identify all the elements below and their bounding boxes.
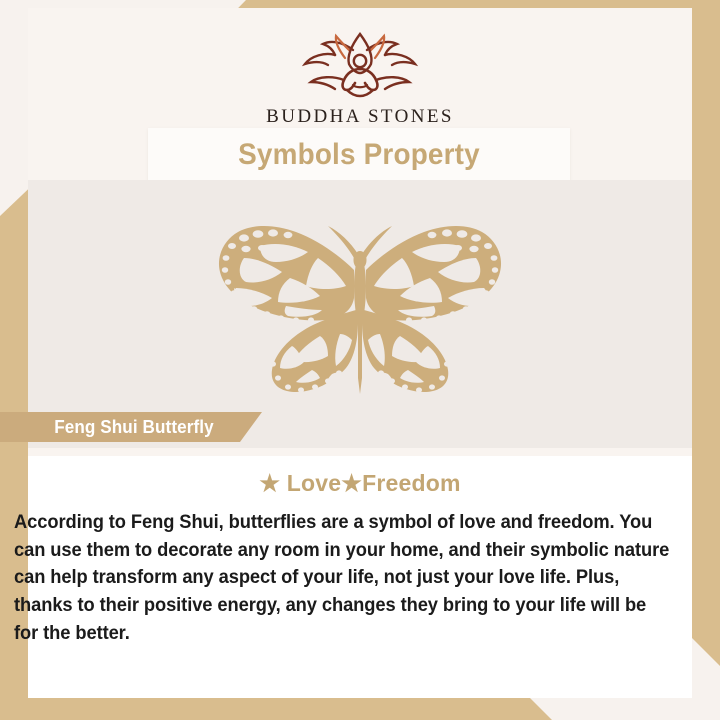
- butterfly-icon: [200, 198, 520, 408]
- description-subtitle: ★ Love★Freedom: [28, 470, 692, 497]
- description-card: ★ Love★Freedom According to Feng Shui, b…: [28, 456, 692, 698]
- feature-tag-label: Feng Shui Butterfly: [54, 417, 214, 438]
- poster-root: BUDDHA STONES Symbols Property: [0, 0, 720, 720]
- feature-tag-banner: Feng Shui Butterfly: [0, 412, 262, 442]
- feature-image-panel: [28, 180, 692, 448]
- lotus-meditation-icon: [285, 28, 435, 100]
- page-title: Symbols Property: [238, 138, 480, 172]
- brand-wordmark: BUDDHA STONES: [266, 106, 454, 128]
- description-paragraph: According to Feng Shui, butterflies are …: [14, 509, 672, 647]
- page-title-band: Symbols Property: [148, 128, 570, 182]
- brand-header: BUDDHA STONES: [28, 28, 692, 128]
- content-sheet: BUDDHA STONES Symbols Property: [28, 8, 692, 698]
